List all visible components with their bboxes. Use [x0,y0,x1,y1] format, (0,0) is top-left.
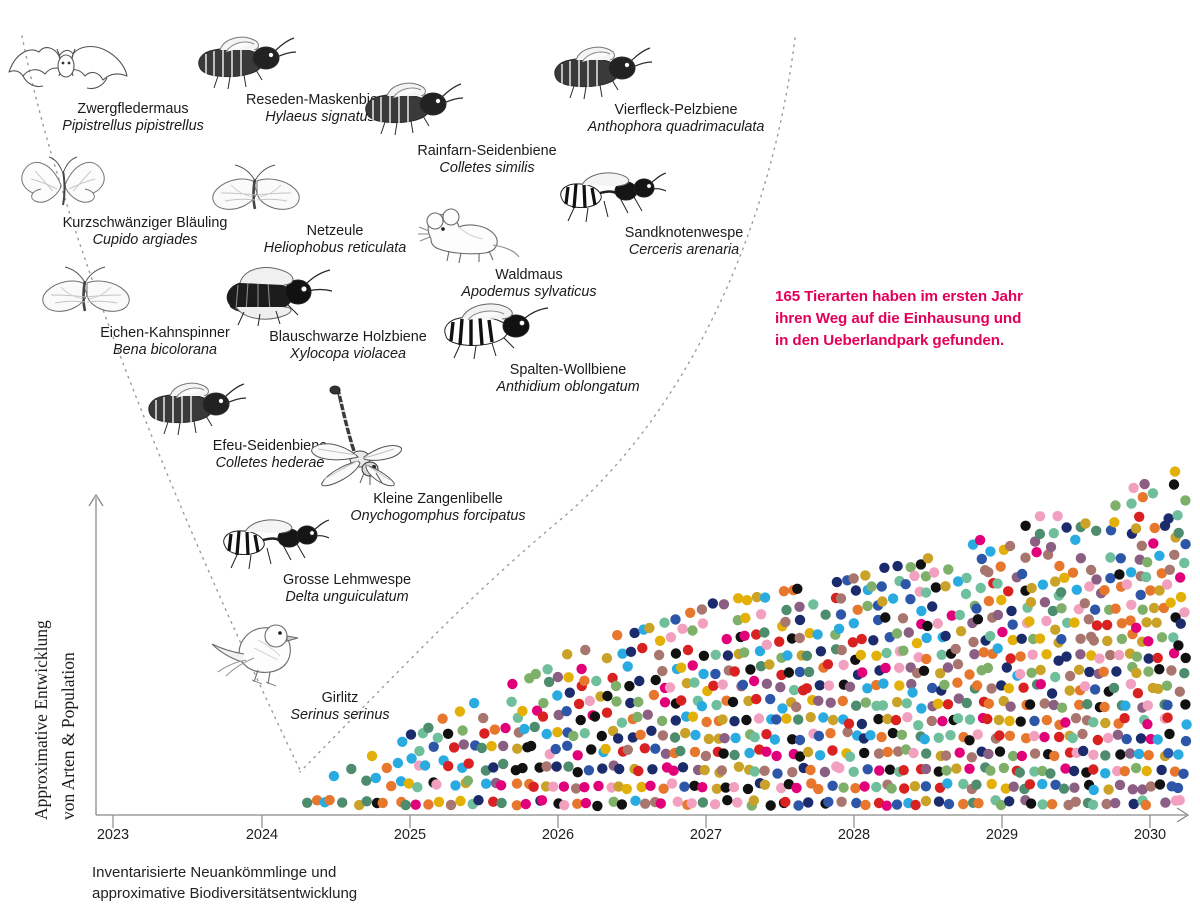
y-axis-label-line-2: von Arten & Population [58,652,78,820]
x-axis-tick-label: 2027 [690,827,722,843]
x-axis-tick-label: 2024 [246,827,278,843]
x-axis-label-line-1: Inventarisierte Neuankömmlinge und [92,862,552,883]
x-axis-tick-label: 2029 [986,827,1018,843]
x-axis-tick-label: 2023 [97,827,129,843]
axis-layer [0,0,1200,910]
y-axis-label-line-1: Approximative Entwicklung [31,620,51,820]
y-axis-label-secondary: von Arten & Population [58,500,92,820]
x-axis-tick-label: 2030 [1134,827,1166,843]
infographic-canvas: ZwergfledermausPipistrellus pipistrellus… [0,0,1200,910]
x-axis-label-line-2: approximative Biodiversitätsentwicklung [92,883,552,904]
x-axis-tick-label: 2028 [838,827,870,843]
x-axis-tick-label: 2025 [394,827,426,843]
x-axis-tick-label: 2026 [542,827,574,843]
x-axis-label: Inventarisierte Neuankömmlinge und appro… [92,862,552,904]
